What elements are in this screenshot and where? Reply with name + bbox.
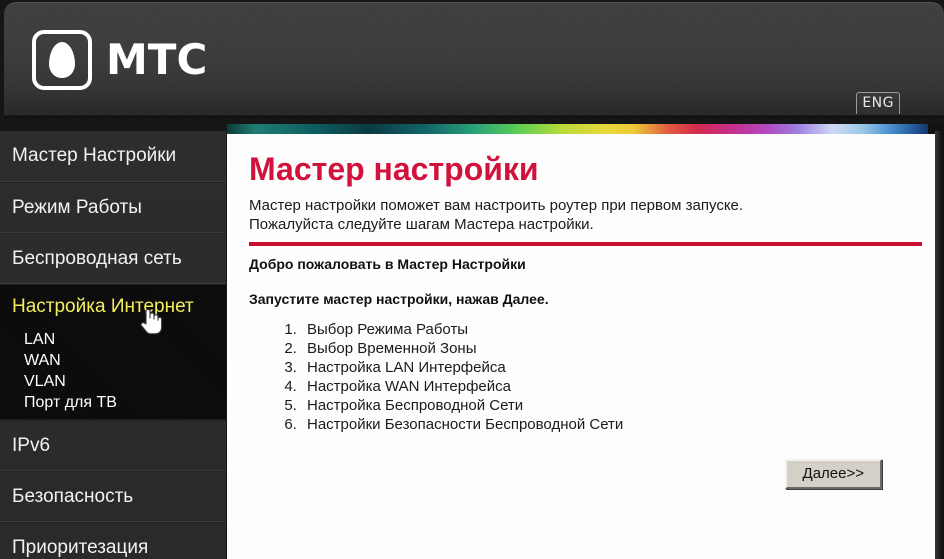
list-item: Настройка LAN Интерфейса xyxy=(301,358,909,377)
intro-line-1: Мастер настройки поможет вам настроить р… xyxy=(249,197,743,214)
wizard-steps-list: Выбор Режима Работы Выбор Временной Зоны… xyxy=(249,320,909,434)
sidebar-group-internet-settings: Настройка Интернет LAN WAN VLAN Порт для… xyxy=(0,284,226,420)
sidebar-subitem-lan[interactable]: LAN xyxy=(0,329,226,350)
sidebar-item-label: Настройка Интернет xyxy=(12,296,194,318)
sidebar-item-wireless-network[interactable]: Беспроводная сеть xyxy=(0,233,226,284)
list-item: Выбор Режима Работы xyxy=(301,320,909,339)
list-item: Настройка Беспроводной Сети xyxy=(301,396,909,415)
sidebar-item-label: Приоритезация xyxy=(12,537,148,559)
sidebar-subitem-vlan[interactable]: VLAN xyxy=(0,371,226,392)
sidebar-item-prioritization[interactable]: Приоритезация xyxy=(0,522,226,559)
button-row: Далее>> xyxy=(249,459,909,489)
main-content-panel: Мастер настройки Мастер настройки поможе… xyxy=(227,134,935,559)
rainbow-divider xyxy=(227,124,940,134)
sidebar-subitem-wan[interactable]: WAN xyxy=(0,350,226,371)
router-admin-screen: МТС ENG Мастер Настройки Режим Работы Бе… xyxy=(0,0,944,559)
language-switch-button[interactable]: ENG xyxy=(856,92,900,114)
list-item: Настройка WAN Интерфейса xyxy=(301,377,909,396)
section-divider xyxy=(249,242,922,246)
start-hint-text: Запустите мастер настройки, нажав Далее. xyxy=(249,290,909,308)
sidebar-nav: Мастер Настройки Режим Работы Беспроводн… xyxy=(0,131,226,559)
sidebar-item-label: Беспроводная сеть xyxy=(12,248,182,270)
sidebar-item-ipv6[interactable]: IPv6 xyxy=(0,420,226,471)
intro-paragraph: Мастер настройки поможет вам настроить р… xyxy=(249,196,909,234)
list-item: Настройки Безопасности Беспроводной Сети xyxy=(301,415,909,434)
sidebar-item-security[interactable]: Безопасность xyxy=(0,471,226,522)
sidebar-item-operation-mode[interactable]: Режим Работы xyxy=(0,182,226,233)
sidebar-item-label: Мастер Настройки xyxy=(12,145,176,167)
sidebar-subitem-tv-port[interactable]: Порт для ТВ xyxy=(0,392,226,413)
app-header: МТС ENG xyxy=(4,2,944,118)
welcome-text: Добро пожаловать в Мастер Настройки xyxy=(249,255,909,273)
sidebar-item-label: Безопасность xyxy=(12,486,133,508)
intro-line-2: Пожалуйста следуйте шагам Мастера настро… xyxy=(249,216,594,233)
sidebar-item-setup-wizard[interactable]: Мастер Настройки xyxy=(0,131,226,182)
next-button[interactable]: Далее>> xyxy=(785,459,882,489)
page-title: Мастер настройки xyxy=(249,152,909,187)
sidebar-item-label: IPv6 xyxy=(12,435,50,457)
sidebar-item-label: Режим Работы xyxy=(12,197,142,219)
brand-logo[interactable]: МТС xyxy=(32,30,207,90)
brand-name: МТС xyxy=(106,39,207,81)
window-right-edge xyxy=(935,131,944,559)
egg-icon xyxy=(32,30,92,90)
list-item: Выбор Временной Зоны xyxy=(301,339,909,358)
sidebar-item-internet-settings[interactable]: Настройка Интернет xyxy=(0,285,226,329)
